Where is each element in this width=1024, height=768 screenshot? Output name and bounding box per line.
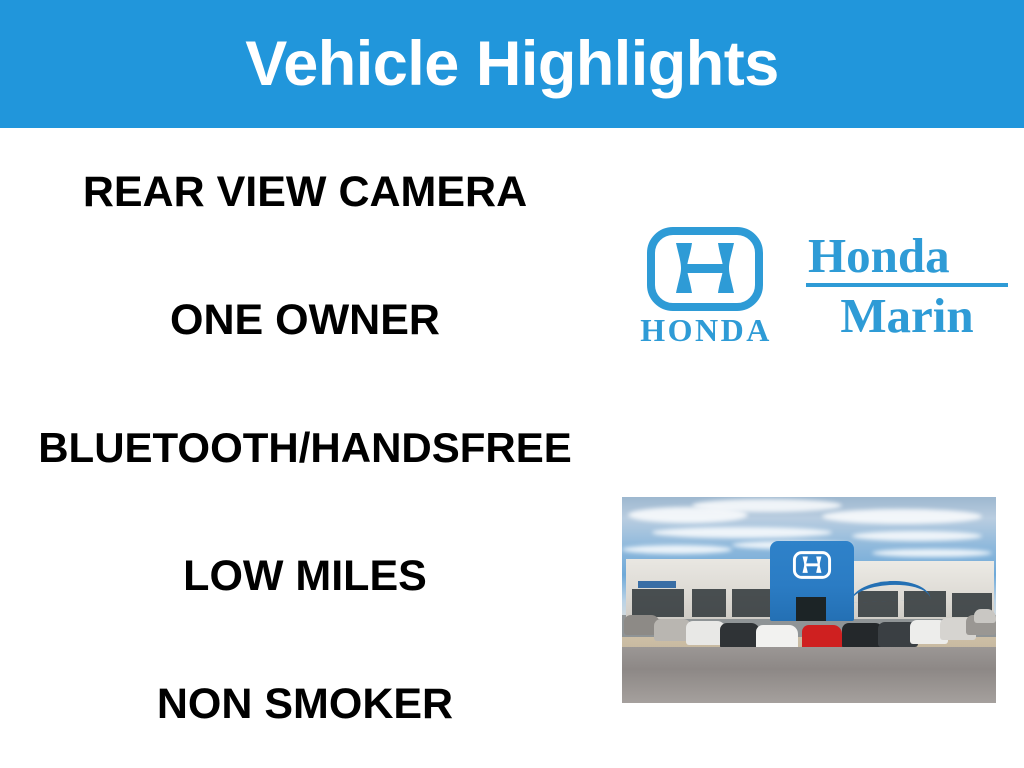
honda-h-emblem-icon [646, 226, 764, 312]
dealer-name-group: Honda Marin [806, 230, 1008, 350]
photo-sign-left [638, 581, 676, 588]
dealer-name-divider [806, 283, 1008, 287]
honda-wordmark: HONDA [616, 314, 796, 348]
feature-item: REAR VIEW CAMERA [0, 128, 610, 256]
photo-car [720, 623, 760, 649]
photo-cloud [872, 549, 992, 557]
honda-emblem-group: HONDA [616, 226, 796, 352]
header-banner: Vehicle Highlights [0, 0, 1024, 128]
photo-cloud [852, 531, 982, 541]
dealership-photo [622, 497, 996, 703]
dealer-name-line-2: Marin [806, 290, 1008, 341]
feature-item: LOW MILES [0, 512, 610, 640]
photo-cloud [692, 499, 842, 512]
dealer-name-line-1: Honda [806, 230, 1008, 281]
photo-window [692, 589, 726, 617]
feature-item: NON SMOKER [0, 640, 610, 768]
honda-h-emblem-icon [792, 551, 832, 579]
photo-cloud [652, 527, 832, 538]
photo-asphalt [622, 647, 996, 703]
photo-cloud [622, 545, 732, 554]
photo-window [632, 589, 684, 617]
feature-item: ONE OWNER [0, 256, 610, 384]
photo-car [974, 609, 996, 623]
vehicle-highlights-list: REAR VIEW CAMERA ONE OWNER BLUETOOTH/HAN… [0, 128, 610, 768]
feature-item: BLUETOOTH/HANDSFREE [0, 384, 610, 512]
page-title: Vehicle Highlights [245, 33, 779, 96]
photo-window [732, 589, 770, 617]
photo-cloud [822, 509, 982, 524]
photo-entrance-door [796, 597, 826, 621]
dealer-logo: HONDA Honda Marin [608, 226, 1008, 354]
